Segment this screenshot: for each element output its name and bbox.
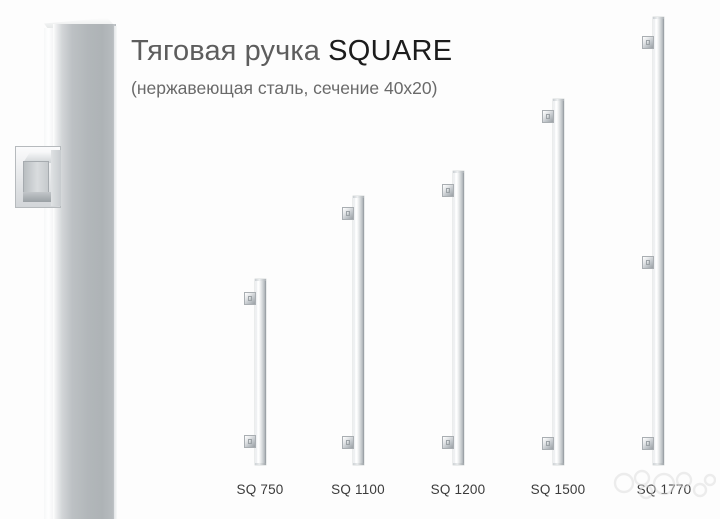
size-label-sq750: SQ 750 — [210, 482, 310, 497]
handle-bar-bottom-edge — [553, 463, 564, 465]
handle-bar-top-edge — [553, 99, 564, 101]
page-subtitle: (нержавеющая сталь, сечение 40x20) — [131, 77, 551, 99]
handle-bar-top-edge — [255, 279, 266, 281]
handle-bar — [453, 171, 464, 465]
hero-bracket-side — [51, 150, 61, 206]
handle-bracket-sq1500-top — [542, 110, 554, 123]
handle-bar-top-edge — [353, 196, 364, 198]
page-title: Тяговая ручка SQUARE — [131, 34, 551, 68]
handle-bar — [653, 17, 664, 465]
handle-bar — [553, 99, 564, 465]
product-image-canvas: Тяговая ручка SQUARE (нержавеющая сталь,… — [0, 0, 720, 519]
hero-handle-right-edge — [114, 26, 117, 519]
product-handle-sq1100 — [353, 196, 364, 465]
handle-bracket-sq1770-bottom — [642, 437, 654, 450]
handle-bracket-sq1770-middle — [642, 256, 654, 269]
handle-bar-bottom-edge — [255, 463, 266, 465]
handle-bar-top-edge — [653, 17, 664, 19]
handle-bracket-sq1770-top — [642, 36, 654, 49]
handle-bar-top-edge — [453, 171, 464, 173]
product-handle-sq1770 — [653, 17, 664, 465]
size-label-sq1200: SQ 1200 — [408, 482, 508, 497]
product-hero-handle — [44, 18, 116, 519]
product-handle-sq1200 — [453, 171, 464, 465]
handle-bar — [353, 196, 364, 465]
heading-block: Тяговая ручка SQUARE (нержавеющая сталь,… — [131, 34, 551, 99]
hero-handle-front-face — [53, 24, 116, 519]
handle-bracket-sq1200-bottom — [442, 436, 454, 449]
handle-bar — [255, 279, 266, 465]
size-label-sq1100: SQ 1100 — [308, 482, 408, 497]
handle-bracket-sq750-bottom — [244, 435, 256, 448]
handle-bracket-sq1200-top — [442, 184, 454, 197]
handle-bracket-sq1500-bottom — [542, 437, 554, 450]
handle-bracket-sq1100-top — [342, 207, 354, 220]
hero-wall-bracket — [15, 146, 61, 208]
product-handle-sq750 — [255, 279, 266, 465]
handle-bar-bottom-edge — [453, 463, 464, 465]
handle-bar-bottom-edge — [353, 463, 364, 465]
handle-bar-bottom-edge — [653, 463, 664, 465]
page-title-en: SQUARE — [328, 35, 452, 67]
handle-bracket-sq1100-bottom — [342, 436, 354, 449]
product-handle-sq1500 — [553, 99, 564, 465]
page-title-ru: Тяговая ручка — [131, 35, 328, 67]
size-label-sq1500: SQ 1500 — [508, 482, 608, 497]
handle-bracket-sq750-top — [244, 292, 256, 305]
hero-bracket-inner-face — [23, 161, 49, 195]
size-label-sq1770: SQ 1770 — [614, 482, 714, 497]
